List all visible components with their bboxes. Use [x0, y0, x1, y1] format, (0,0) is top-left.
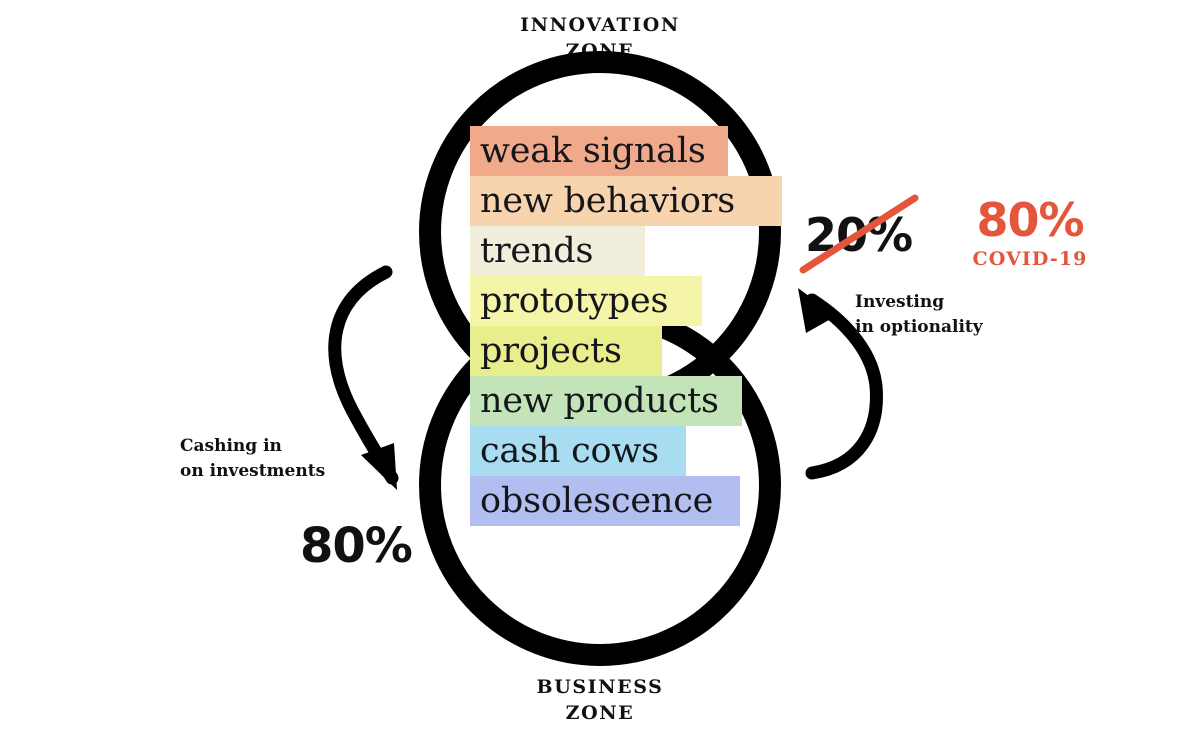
- crossed-percent-group: 20%: [805, 212, 912, 258]
- label-bar: cash cows: [470, 426, 686, 476]
- innovation-zone-caption: INNOVATION ZONE: [430, 12, 770, 64]
- diagram-canvas: INNOVATION ZONE weak signals new behavio…: [0, 0, 1200, 740]
- label-bar: trends: [470, 226, 645, 276]
- label-bar-stack: weak signals new behaviors trends protot…: [470, 126, 782, 526]
- label-bar: new products: [470, 376, 742, 426]
- label-bar: projects: [470, 326, 662, 376]
- bar-label-text: projects: [470, 334, 622, 369]
- business-zone-caption: BUSINESS ZONE: [430, 674, 770, 726]
- investing-optionality-note: Investing in optionality: [855, 290, 1065, 340]
- cashing-in-note: Cashing in on investments: [180, 434, 380, 484]
- crossed-percent-label: 20%: [805, 212, 912, 258]
- bar-label-text: new products: [470, 384, 719, 419]
- bar-label-text: trends: [470, 234, 593, 269]
- left-percent-label: 80%: [300, 522, 412, 570]
- covid-percent-group: 80% COVID-19: [965, 196, 1095, 270]
- bar-label-text: obsolescence: [470, 484, 713, 519]
- label-bar: prototypes: [470, 276, 702, 326]
- label-bar: obsolescence: [470, 476, 740, 526]
- label-bar: new behaviors: [470, 176, 782, 226]
- bar-label-text: prototypes: [470, 284, 668, 319]
- covid-percent-label: 80%: [965, 196, 1095, 244]
- label-bar: weak signals: [470, 126, 728, 176]
- bar-label-text: cash cows: [470, 434, 659, 469]
- bar-label-text: new behaviors: [470, 184, 735, 219]
- bar-label-text: weak signals: [470, 134, 706, 169]
- covid-caption: COVID-19: [965, 248, 1095, 270]
